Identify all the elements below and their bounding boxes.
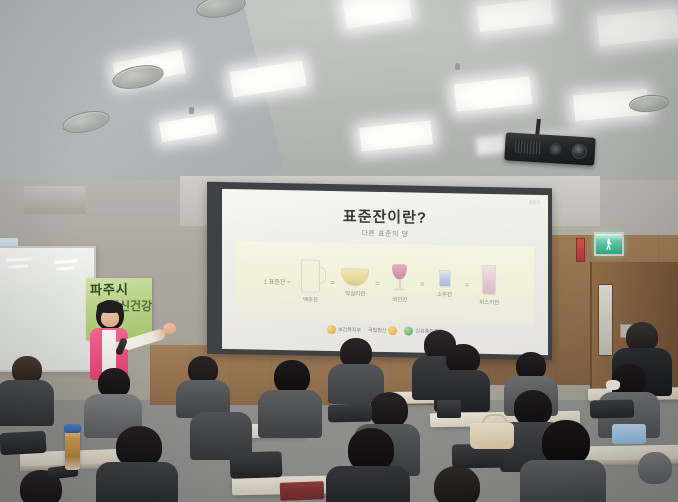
slide-corner-note: 표준잔	[529, 200, 540, 206]
tumbler-lid[interactable]	[64, 424, 81, 433]
drink-caption: 맥주잔	[303, 295, 318, 303]
ceiling-light-panel	[359, 120, 433, 151]
equals-sign: =	[420, 279, 425, 288]
ceiling-light-panel	[477, 0, 554, 32]
projector-lens-icon	[571, 143, 587, 159]
drink-makgeolli-bowl: 막걸리잔	[338, 268, 372, 298]
ceiling-blank-section	[0, 0, 285, 196]
audience-person	[258, 360, 324, 434]
audience-person	[96, 426, 180, 502]
national-center-logo-icon	[388, 326, 397, 335]
person-head	[434, 466, 480, 502]
projector-fan	[549, 142, 563, 156]
person-head	[638, 452, 672, 484]
ceiling-light-panel	[454, 76, 533, 112]
drink-beer-mug: 맥주잔	[294, 259, 328, 304]
emergency-exit-sign	[594, 232, 624, 256]
logo-label: 보건복지부	[338, 326, 361, 333]
tote-bag[interactable]	[470, 423, 514, 449]
logo-national-center: 국립정신	[368, 326, 397, 336]
audience-person	[434, 344, 492, 408]
drink-caption: 위스키잔	[479, 297, 499, 305]
lecture-hall-photo: 파주시 정신건강 표준잔 표준잔이란? 다른 표준의 양 1 표준잔 = 맥주잔…	[0, 0, 678, 502]
ceiling-projector	[504, 132, 596, 165]
fire-alarm-box	[576, 238, 585, 262]
presenter-hand	[162, 322, 177, 335]
running-person-icon	[606, 238, 613, 250]
makgeolli-bowl-icon	[341, 268, 369, 287]
audience-person	[326, 338, 386, 400]
audience-person	[626, 452, 678, 502]
audience-person	[0, 356, 58, 424]
logo-label: 국립정신	[368, 327, 386, 334]
red-notebook[interactable]	[280, 481, 325, 501]
person-torso	[520, 460, 606, 502]
tablet-device[interactable]	[437, 400, 461, 418]
ceiling-light-panel	[597, 8, 678, 46]
person-head	[370, 392, 408, 428]
audience-person	[190, 382, 254, 454]
drink-caption: 와인잔	[392, 295, 407, 303]
chair	[328, 404, 372, 423]
drink-whisky-glass: 위스키잔	[472, 264, 506, 306]
slide-logo-row: 보건복지부 국립정신 건강증진개발	[222, 323, 548, 338]
face-mask-icon	[606, 380, 620, 390]
projector-vent	[515, 140, 542, 155]
audience-person	[520, 420, 608, 502]
presenter-extended-arm	[121, 328, 166, 351]
ceiling-light-panel	[342, 0, 412, 29]
equals-sign: =	[465, 280, 470, 289]
equals-sign: =	[331, 277, 336, 286]
drink-wine-glass: 와인잔	[383, 263, 417, 303]
audience-person	[84, 368, 144, 434]
person-torso	[258, 390, 322, 438]
drink-caption: 막걸리잔	[345, 289, 365, 297]
equation-label: 1 표준잔 =	[264, 276, 291, 286]
projection-screen: 표준잔 표준잔이란? 다른 표준의 양 1 표준잔 = 맥주잔 = 막걸리잔 =…	[222, 189, 548, 355]
audience-person	[416, 466, 500, 502]
person-torso	[326, 466, 410, 502]
chair	[590, 400, 634, 419]
door-window	[598, 284, 613, 356]
wine-glass-icon	[392, 264, 407, 292]
ceiling	[0, 0, 678, 196]
equals-sign: =	[375, 278, 380, 287]
chair	[0, 431, 47, 455]
sprinkler-head	[455, 63, 460, 70]
person-head	[274, 360, 310, 394]
person-torso	[0, 380, 54, 426]
drink-soju-glass: 소주잔	[428, 270, 462, 299]
beer-mug-icon	[301, 259, 320, 292]
health-promotion-logo-icon	[327, 325, 336, 334]
drink-caption: 소주잔	[437, 290, 452, 298]
air-conditioner-unit	[24, 186, 86, 214]
person-torso	[96, 462, 178, 502]
chair	[230, 451, 283, 479]
soju-glass-icon	[439, 270, 451, 287]
presenter-bangs	[97, 301, 123, 313]
audience-person	[326, 428, 412, 502]
banner-line1: 파주시	[90, 281, 148, 297]
person-head	[204, 382, 240, 416]
whisky-glass-icon	[482, 264, 496, 294]
logo-health-promotion: 보건복지부	[327, 325, 361, 335]
sprinkler-head	[189, 107, 194, 114]
blue-cloth	[612, 424, 646, 444]
standard-drink-equation: 1 표준잔 = 맥주잔 = 막걸리잔 = 와인잔 = 소주잔	[236, 241, 534, 325]
